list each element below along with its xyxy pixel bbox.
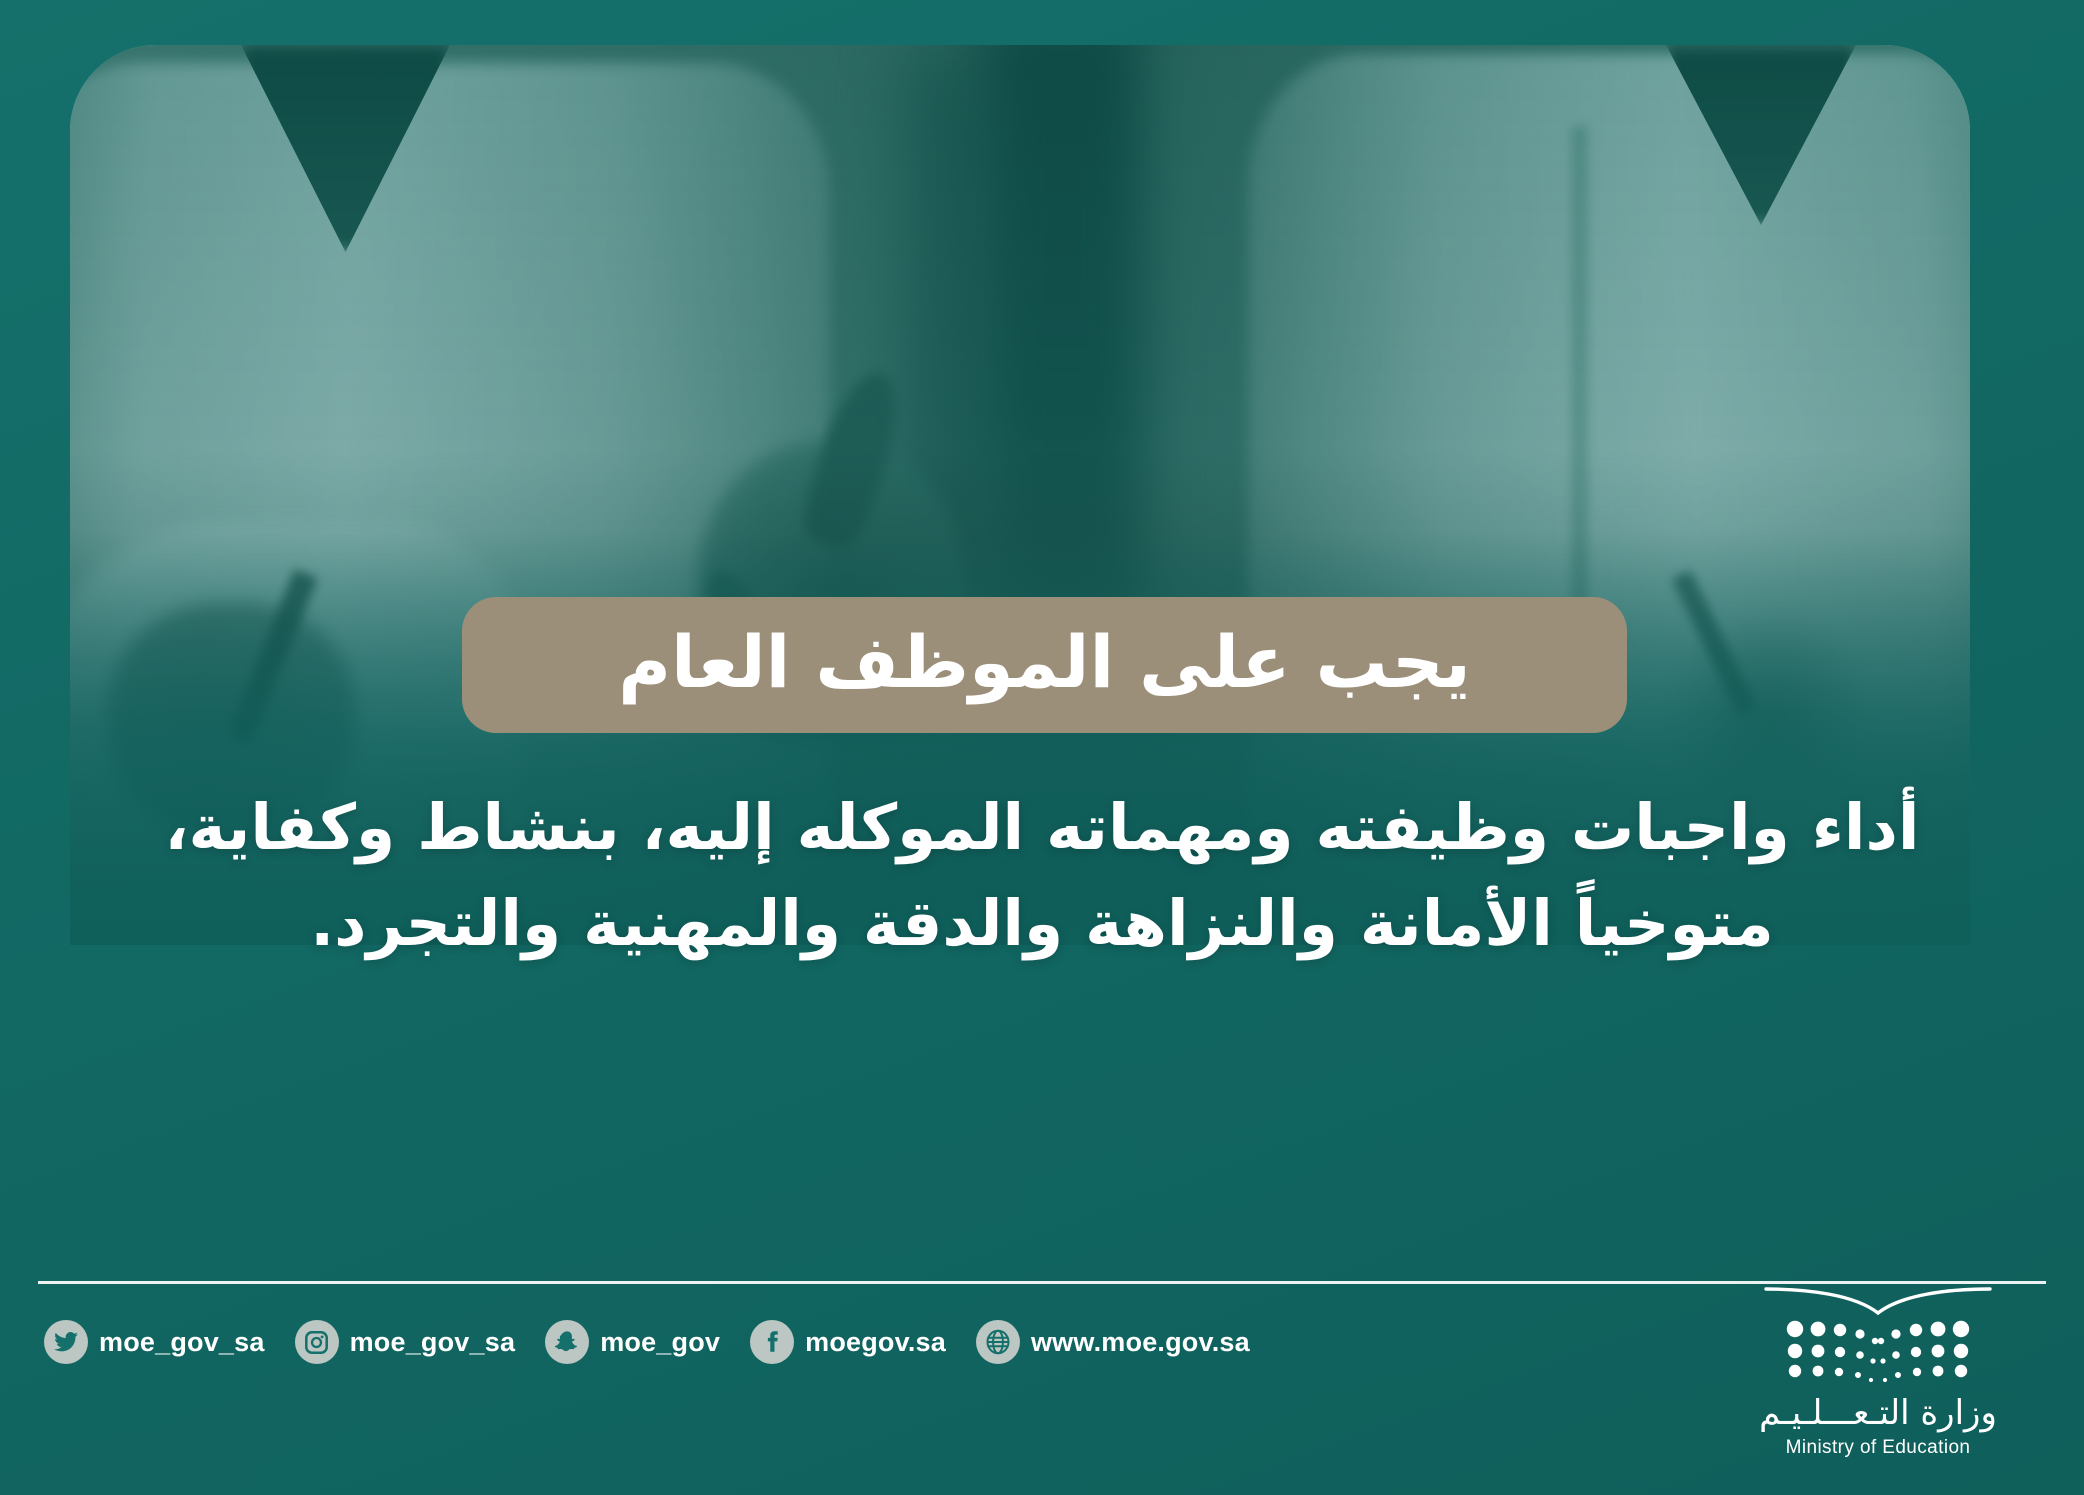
social-handle-twitter: moe_gov_sa <box>99 1327 265 1358</box>
twitter-icon <box>44 1320 88 1364</box>
social-item-snapchat[interactable]: moe_gov <box>545 1320 720 1364</box>
globe-icon <box>976 1320 1020 1364</box>
social-item-instagram[interactable]: moe_gov_sa <box>295 1320 516 1364</box>
title-badge: يجب على الموظف العام <box>462 597 1627 733</box>
social-item-facebook[interactable]: moegov.sa <box>750 1320 946 1364</box>
social-item-twitter[interactable]: moe_gov_sa <box>44 1320 265 1364</box>
ministry-name-arabic: وزارة التـعـــلـيـم <box>1759 1393 1997 1433</box>
facebook-icon <box>750 1320 794 1364</box>
social-handle-snapchat: moe_gov <box>600 1327 720 1358</box>
ministry-name-english: Ministry of Education <box>1786 1437 1971 1459</box>
instagram-icon <box>295 1320 339 1364</box>
social-handle-facebook: moegov.sa <box>805 1327 946 1358</box>
moe-book-mark-icon <box>1763 1283 1993 1391</box>
poster-root: يجب على الموظف العام أداء واجبات وظيفته … <box>0 0 2084 1495</box>
title-text: يجب على الموظف العام <box>618 626 1471 698</box>
social-item-website[interactable]: www.moe.gov.sa <box>976 1320 1250 1364</box>
ministry-logo: وزارة التـعـــلـيـم Ministry of Educatio… <box>1728 1283 2028 1463</box>
social-handle-instagram: moe_gov_sa <box>350 1327 516 1358</box>
social-links-bar: moe_gov_sa moe_gov_sa moe_gov <box>44 1320 1250 1364</box>
snapchat-icon <box>545 1320 589 1364</box>
body-text: أداء واجبات وظيفته ومهماته الموكله إليه،… <box>100 780 1984 972</box>
social-handle-website: www.moe.gov.sa <box>1031 1327 1250 1358</box>
